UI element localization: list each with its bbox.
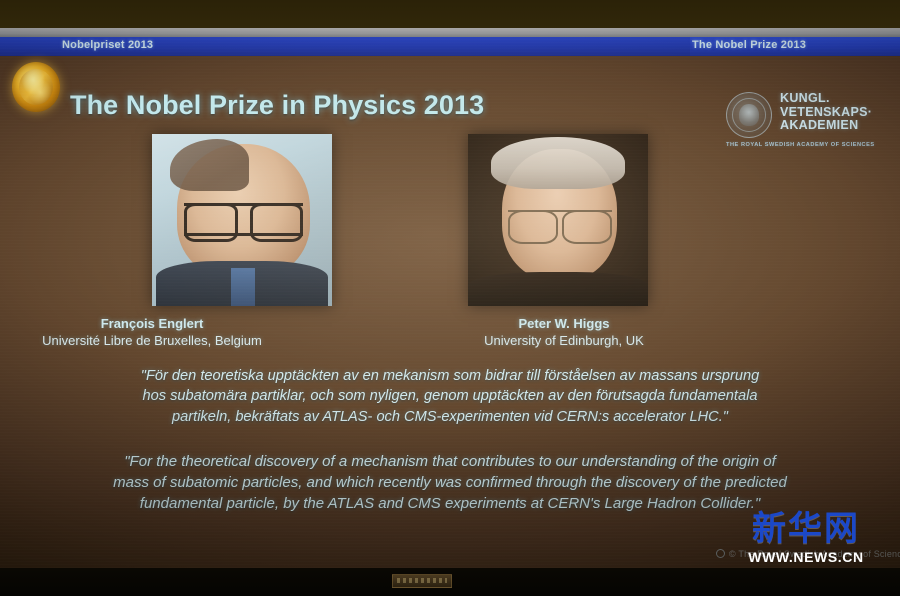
xinhua-watermark: 新华网 WWW.NEWS.CN xyxy=(726,512,886,565)
laureate-affiliation: University of Edinburgh, UK xyxy=(404,333,724,348)
nobel-medal-icon xyxy=(12,62,60,112)
photo-of-projected-slide: Nobelpriset 2013 The Nobel Prize 2013 Th… xyxy=(0,0,900,596)
citation-swedish-line-1: "För den teoretiska upptäckten av en mek… xyxy=(0,366,900,386)
header-bar-right-label: The Nobel Prize 2013 xyxy=(692,39,806,51)
copyright-icon xyxy=(716,549,725,558)
academy-name-line3: AKADEMIEN xyxy=(780,119,872,133)
citation-swedish-line-3: partikeln, bekräftats av ATLAS- och CMS-… xyxy=(0,407,900,427)
photo-tie xyxy=(231,268,254,306)
nobel-medal-engraving xyxy=(19,69,53,105)
citation-english: "For the theoretical discovery of a mech… xyxy=(0,451,900,514)
photo-hair xyxy=(491,137,624,189)
bottom-device xyxy=(392,574,452,588)
watermark-chinese-text: 新华网 xyxy=(726,512,886,546)
laureate-photo-englert xyxy=(152,134,332,306)
page-title: The Nobel Prize in Physics 2013 xyxy=(70,90,484,121)
photo-eyeglasses xyxy=(508,210,612,238)
photo-eyeglasses xyxy=(184,203,303,237)
laureate-affiliation: Université Libre de Bruxelles, Belgium xyxy=(0,333,312,348)
citation-swedish: "För den teoretiska upptäckten av en mek… xyxy=(0,366,900,427)
citation-swedish-line-2: hos subatomära partiklar, och som nylige… xyxy=(0,386,900,406)
presentation-slide: Nobelpriset 2013 The Nobel Prize 2013 Th… xyxy=(0,28,900,568)
laureate-caption-higgs: Peter W. Higgs University of Edinburgh, … xyxy=(404,316,724,348)
laureate-name: Peter W. Higgs xyxy=(404,316,724,331)
academy-name-line2: VETENSKAPS· xyxy=(780,106,872,120)
academy-subtitle: THE ROYAL SWEDISH ACADEMY OF SCIENCES xyxy=(726,142,892,148)
watermark-url: WWW.NEWS.CN xyxy=(726,549,886,565)
photo-suit xyxy=(468,272,648,306)
citation-english-line-2: mass of subatomic particles, and which r… xyxy=(0,472,900,493)
academy-logo: KUNGL. VETENSKAPS· AKADEMIEN THE ROYAL S… xyxy=(726,92,892,148)
laureate-photo-higgs xyxy=(468,134,648,306)
laureate-name: François Englert xyxy=(0,316,312,331)
slide-top-strip xyxy=(0,28,900,37)
laureate-caption-englert: François Englert Université Libre de Bru… xyxy=(0,316,312,348)
academy-name-line1: KUNGL. xyxy=(780,92,872,106)
citation-english-line-1: "For the theoretical discovery of a mech… xyxy=(0,451,900,472)
academy-seal-icon xyxy=(726,92,772,138)
header-bar-left-label: Nobelpriset 2013 xyxy=(62,39,153,51)
